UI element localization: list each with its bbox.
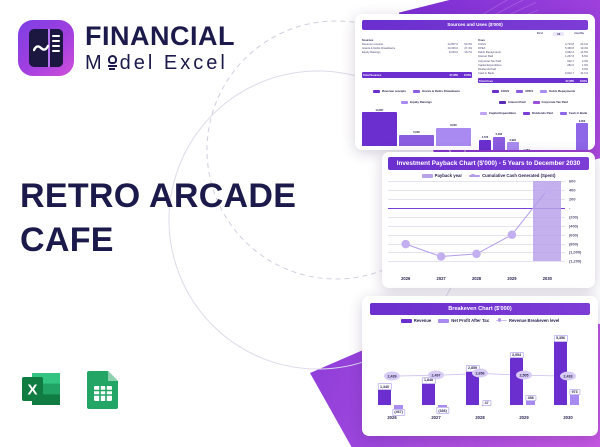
total-pct: 100% <box>458 73 472 77</box>
breakeven-value-label: 2,505 <box>516 371 532 380</box>
chart-panel-sources-and-uses[interactable]: Sources and Uses ($'000) First All month… <box>355 14 595 150</box>
breakeven-x-axis-labels: 20262027202820292030 <box>370 415 590 420</box>
y-axis-tick-label: (400) <box>569 223 578 228</box>
legend-item: COGS <box>492 89 510 93</box>
breakeven-value-label: 2,439 <box>384 372 400 381</box>
legend-item: Payback year <box>422 173 462 178</box>
legend-item: Debts Repayments <box>540 89 575 93</box>
sources-bars: 14,8075,0008,000 <box>362 104 471 146</box>
bar <box>507 142 519 150</box>
sources-bar-chart: Revenue receipts Grants & Debts Drawdown… <box>362 86 471 150</box>
filter-value-select[interactable]: All <box>553 32 564 36</box>
bar <box>479 140 491 150</box>
brand-logo: FINANCIAL Mdel Excel <box>18 20 235 76</box>
breakeven-value-label: 2,656 <box>472 369 488 378</box>
net-profit-bar <box>570 394 580 406</box>
total-label: Total Uses <box>478 79 552 83</box>
y-axis-tick-label: (1,200) <box>569 259 581 264</box>
sources-filter-row[interactable]: First All months <box>362 32 584 36</box>
net-profit-value-label: 47 <box>482 400 491 407</box>
payback-line-series <box>388 181 565 261</box>
legend-item: OPEX <box>516 89 533 93</box>
legend-label: Corporate Tax Paid <box>542 100 568 104</box>
uses-column: Uses COGS4,723.824.1% OPEX5,466.819.4% D… <box>478 38 588 84</box>
bar-column: 14,807 <box>362 104 397 146</box>
revenue-bar <box>378 389 391 405</box>
page-title: RETRO ARCADE CAFE <box>20 175 310 262</box>
bar-column: 282 <box>548 115 560 150</box>
table-row: Cash in Bank9,002.734.1% <box>478 72 588 76</box>
bar-value-label: 8,000 <box>450 124 457 127</box>
bar-column: 5,466 <box>493 115 505 150</box>
chart-title-investment-payback: Investment Payback Chart ($'000) - 5 Yea… <box>388 157 589 170</box>
microsoft-excel-icon: X <box>18 366 64 412</box>
row-pct: 34.1% <box>574 72 588 76</box>
total-pct: 100% <box>574 79 588 83</box>
brand-name-secondary-a: M <box>85 53 105 73</box>
total-label: Total Sources <box>362 73 436 77</box>
x-axis-tick-label: 2028 <box>459 276 494 281</box>
revenue-value-label: 3,954 <box>509 352 523 359</box>
bar-value-label: 4,723 <box>482 136 489 139</box>
bar <box>399 135 434 146</box>
bar-column: 9,002 <box>576 115 588 150</box>
y-axis-tick-label: 600 <box>569 179 576 184</box>
bar-column: 3,992 <box>507 115 519 150</box>
bar <box>493 137 505 150</box>
legend-item: Cumulative Cash Generated (Spent) <box>469 173 555 178</box>
brand-name-secondary-b: del Excel <box>120 53 228 73</box>
x-axis-tick-label: 2029 <box>502 415 546 420</box>
x-axis-tick-label: 2030 <box>530 276 565 281</box>
uses-header: Uses <box>478 38 588 42</box>
bar-column: 5,000 <box>399 104 434 146</box>
x-axis-tick-label: 2029 <box>494 276 529 281</box>
total-amount: 27,855 <box>552 79 574 83</box>
google-sheets-icon <box>80 366 126 412</box>
total-amount: 27,855 <box>436 73 458 77</box>
bar-column: 4,723 <box>479 115 491 150</box>
filter-label-first: First <box>537 32 543 36</box>
row-label: Equity Raisings <box>362 51 436 55</box>
y-axis-tick-label: (600) <box>569 232 578 237</box>
legend-label: Revenue Breakeven level <box>509 318 559 323</box>
y-axis-tick-label: (800) <box>569 241 578 246</box>
revenue-value-label: 5,356 <box>553 335 567 342</box>
bar-column: 1,267 <box>521 115 533 150</box>
x-axis-tick-label: 2026 <box>370 415 414 420</box>
sources-chart-legend: Revenue receipts Grants & Debts Drawdown… <box>362 89 471 104</box>
legend-item: Revenue Breakeven level <box>496 318 559 323</box>
y-axis-tick-label: 400 <box>569 188 576 193</box>
legend-item: Net Profit After Tax <box>438 318 489 323</box>
legend-item: Revenue <box>401 318 431 323</box>
x-axis-tick-label: 2028 <box>458 415 502 420</box>
y-axis-tick-label: - <box>569 206 570 211</box>
revenue-bar <box>422 383 435 405</box>
row-pct: 19.7% <box>458 51 472 55</box>
payback-plot <box>388 181 565 261</box>
y-axis-tick-label: (200) <box>569 214 578 219</box>
breakeven-plot-area: 1,340(467)1,848(336)2,859473,9544585,356… <box>370 327 590 413</box>
row-amount: 9,002.7 <box>552 72 574 76</box>
sources-header: Sources <box>362 38 472 42</box>
revenue-value-label: 1,340 <box>377 383 391 390</box>
chart-title-sources-and-uses: Sources and Uses ($'000) <box>362 20 588 30</box>
x-axis-tick-label: 2026 <box>388 276 423 281</box>
bar-value-label: 14,807 <box>376 109 384 112</box>
uses-total-row: Total Uses27,855100% <box>478 78 588 84</box>
uses-chart-legend: COGS OPEX Debts Repayments Interest Paid… <box>479 89 588 115</box>
legend-label: Debts Repayments <box>549 89 575 93</box>
brand-name-primary: FINANCIAL <box>85 23 235 50</box>
filter-label-months: months <box>574 32 584 36</box>
legend-item: Grants & Debts Drawdowns <box>413 89 460 93</box>
payback-plot-area: 600400200-(200)(400)(600)(800)(1,000)(1,… <box>388 181 589 273</box>
legend-item: Corporate Tax Paid <box>533 100 568 104</box>
chart-panel-breakeven[interactable]: Breakeven Chart ($'000) Revenue Net Prof… <box>362 296 598 436</box>
x-axis-tick-label: 2027 <box>423 276 458 281</box>
sources-column: Sources Revenue receipts14,807.053.3% Gr… <box>362 38 472 84</box>
legend-label: Cumulative Cash Generated (Spent) <box>482 173 555 178</box>
y-axis-tick-label: 200 <box>569 197 576 202</box>
net-profit-value-label: 973 <box>569 389 580 396</box>
chart-title-breakeven: Breakeven Chart ($'000) <box>370 303 590 315</box>
sources-total-row: Total Sources27,855100% <box>362 72 472 78</box>
legend-label: Grants & Debts Drawdowns <box>422 89 460 93</box>
payback-y-axis-labels: 600400200-(200)(400)(600)(800)(1,000)(1,… <box>567 181 589 261</box>
net-profit-value-label: (467) <box>392 409 406 416</box>
table-row: Equity Raisings8,000.019.7% <box>362 51 472 55</box>
breakeven-value-label: 2,497 <box>428 371 444 380</box>
payback-chart-legend: Payback year Cumulative Cash Generated (… <box>388 173 589 178</box>
legend-label: COGS <box>501 89 510 93</box>
x-axis-tick-label: 2030 <box>546 415 590 420</box>
breakeven-value-label: 2,433 <box>560 372 576 381</box>
wave-icon <box>33 43 49 54</box>
bar-column: 602 <box>535 115 547 150</box>
uses-bar-chart: COGS OPEX Debts Repayments Interest Paid… <box>479 86 588 150</box>
legend-item: Interest Paid <box>499 100 525 104</box>
legend-label: Interest Paid <box>508 100 525 104</box>
bar <box>576 123 588 150</box>
brand-name-secondary: Mdel Excel <box>85 53 235 73</box>
bar-value-label: 9,002 <box>579 120 586 123</box>
legend-label: Payback year <box>435 173 462 178</box>
bar-value-label: 5,000 <box>413 131 420 134</box>
legend-label: OPEX <box>525 89 533 93</box>
net-profit-value-label: (336) <box>436 407 450 414</box>
bar <box>436 128 471 146</box>
x-axis-tick-label: 2027 <box>414 415 458 420</box>
chart-panel-investment-payback[interactable]: Investment Payback Chart ($'000) - 5 Yea… <box>382 152 595 288</box>
bar-value-label: 5,466 <box>496 133 503 136</box>
y-axis-tick-label: (1,000) <box>569 250 581 255</box>
row-label: Cash in Bank <box>478 72 552 76</box>
lightbulb-icon <box>106 55 119 72</box>
gridline <box>388 261 565 262</box>
bar-value-label: 1,267 <box>523 149 530 150</box>
legend-label: Revenue receipts <box>382 89 406 93</box>
payback-x-axis-labels: 20262027202820292030 <box>388 276 589 281</box>
spreadsheet-chart-icon <box>18 20 74 76</box>
legend-label: Net Profit After Tax <box>451 318 489 323</box>
bar-column: - <box>562 115 574 150</box>
bar-value-label: 3,992 <box>509 139 516 142</box>
row-amount: 8,000.0 <box>436 51 458 55</box>
legend-label: Revenue <box>414 318 431 323</box>
bar <box>362 112 397 146</box>
revenue-bar <box>510 358 523 406</box>
file-format-icons: X <box>18 366 126 412</box>
legend-item: Revenue receipts <box>373 89 406 93</box>
uses-bars: 4,7235,4663,9921,267602282-9,002 <box>479 115 588 150</box>
svg-text:X: X <box>27 382 37 399</box>
poster-canvas: FINANCIAL Mdel Excel RETRO ARCADE CAFE X <box>0 0 600 447</box>
breakeven-chart-legend: Revenue Net Profit After Tax Revenue Bre… <box>370 318 590 323</box>
bar-column: 8,000 <box>436 104 471 146</box>
net-profit-value-label: 458 <box>525 395 536 402</box>
